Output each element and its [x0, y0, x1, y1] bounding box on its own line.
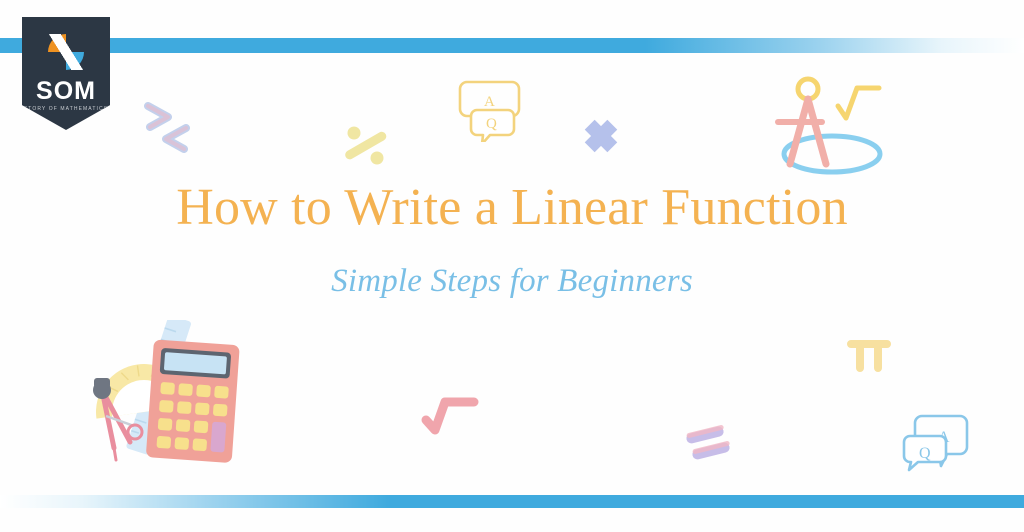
qa-speech-bubbles-blue-icon: A Q	[900, 408, 972, 480]
square-root-symbol-pink-icon	[418, 390, 480, 438]
page-subtitle: Simple Steps for Beginners	[0, 263, 1024, 300]
svg-text:Q: Q	[919, 445, 931, 462]
logo-mark-white-slash	[48, 34, 84, 70]
som-logo-badge[interactable]: SOM STORY OF MATHEMATICS	[22, 17, 110, 130]
bottom-accent-rule	[0, 495, 1024, 508]
logo-wordmark: SOM	[36, 79, 96, 104]
double-chevron-icon	[138, 100, 200, 158]
percent-symbol-icon	[340, 122, 392, 170]
som-logo-mark-icon	[48, 34, 84, 70]
banner-canvas: A Q	[0, 0, 1024, 532]
pi-symbol-icon	[845, 332, 893, 378]
logo-tagline: STORY OF MATHEMATICS	[24, 107, 108, 112]
svg-text:Q: Q	[486, 116, 497, 132]
equals-symbol-icon	[680, 418, 736, 466]
qa-speech-bubbles-yellow-icon: A Q	[455, 70, 527, 142]
compass-divider-icon	[760, 72, 890, 182]
page-title: How to Write a Linear Function	[0, 178, 1024, 237]
calculator-illustration	[72, 320, 242, 475]
cross-asterisk-icon	[578, 113, 624, 159]
top-accent-rule	[0, 38, 1024, 53]
svg-text:A: A	[484, 94, 495, 110]
